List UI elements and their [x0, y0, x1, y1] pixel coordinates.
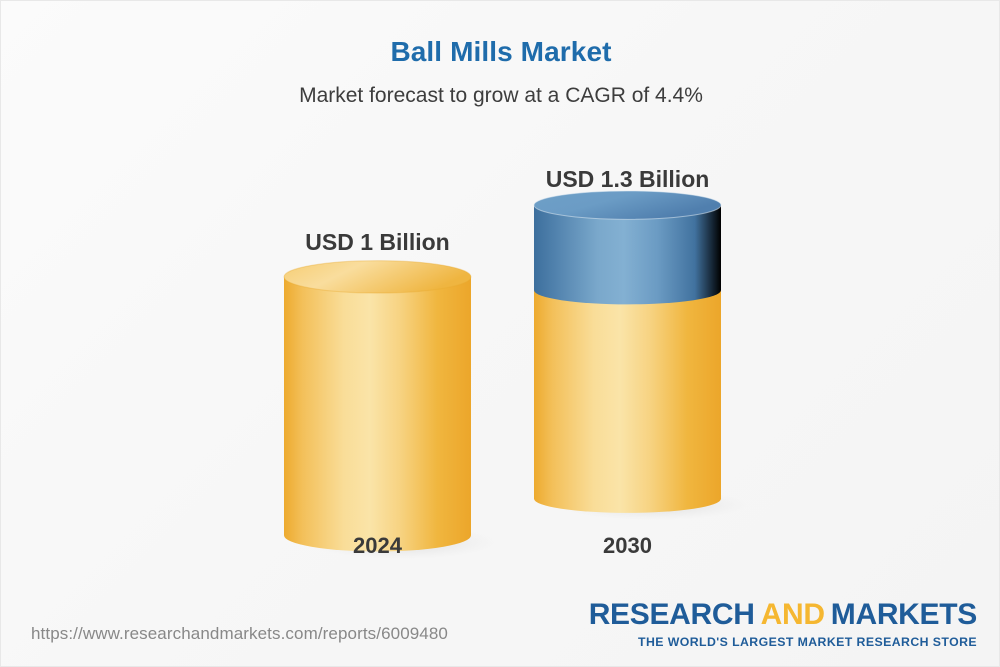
chart-plot-area: USD 1 Billion — [1, 1, 1000, 667]
bar-value-label-2030: USD 1.3 Billion — [534, 166, 721, 193]
bar-group-2030: USD 1.3 Billion — [534, 1, 721, 667]
report-url[interactable]: https://www.researchandmarkets.com/repor… — [31, 624, 448, 644]
logo-wordmark: RESEARCHANDMARKETS — [589, 600, 977, 630]
bar-category-label-2024: 2024 — [284, 533, 471, 559]
bar-category-label-2030: 2030 — [534, 533, 721, 559]
infographic-canvas: Ball Mills Market Market forecast to gro… — [0, 0, 1000, 667]
bar-value-label-2024: USD 1 Billion — [284, 229, 471, 256]
research-and-markets-logo[interactable]: RESEARCHANDMARKETS THE WORLD'S LARGEST M… — [589, 600, 977, 648]
cylinder-bar-2024 — [284, 263, 471, 563]
logo-word-and: AND — [761, 598, 825, 631]
logo-word-markets: MARKETS — [831, 598, 977, 631]
bar-group-2024: USD 1 Billion — [284, 1, 471, 667]
logo-word-research: RESEARCH — [589, 598, 755, 631]
logo-tagline: THE WORLD'S LARGEST MARKET RESEARCH STOR… — [589, 636, 977, 648]
cylinder-bar-2030 — [534, 193, 721, 523]
